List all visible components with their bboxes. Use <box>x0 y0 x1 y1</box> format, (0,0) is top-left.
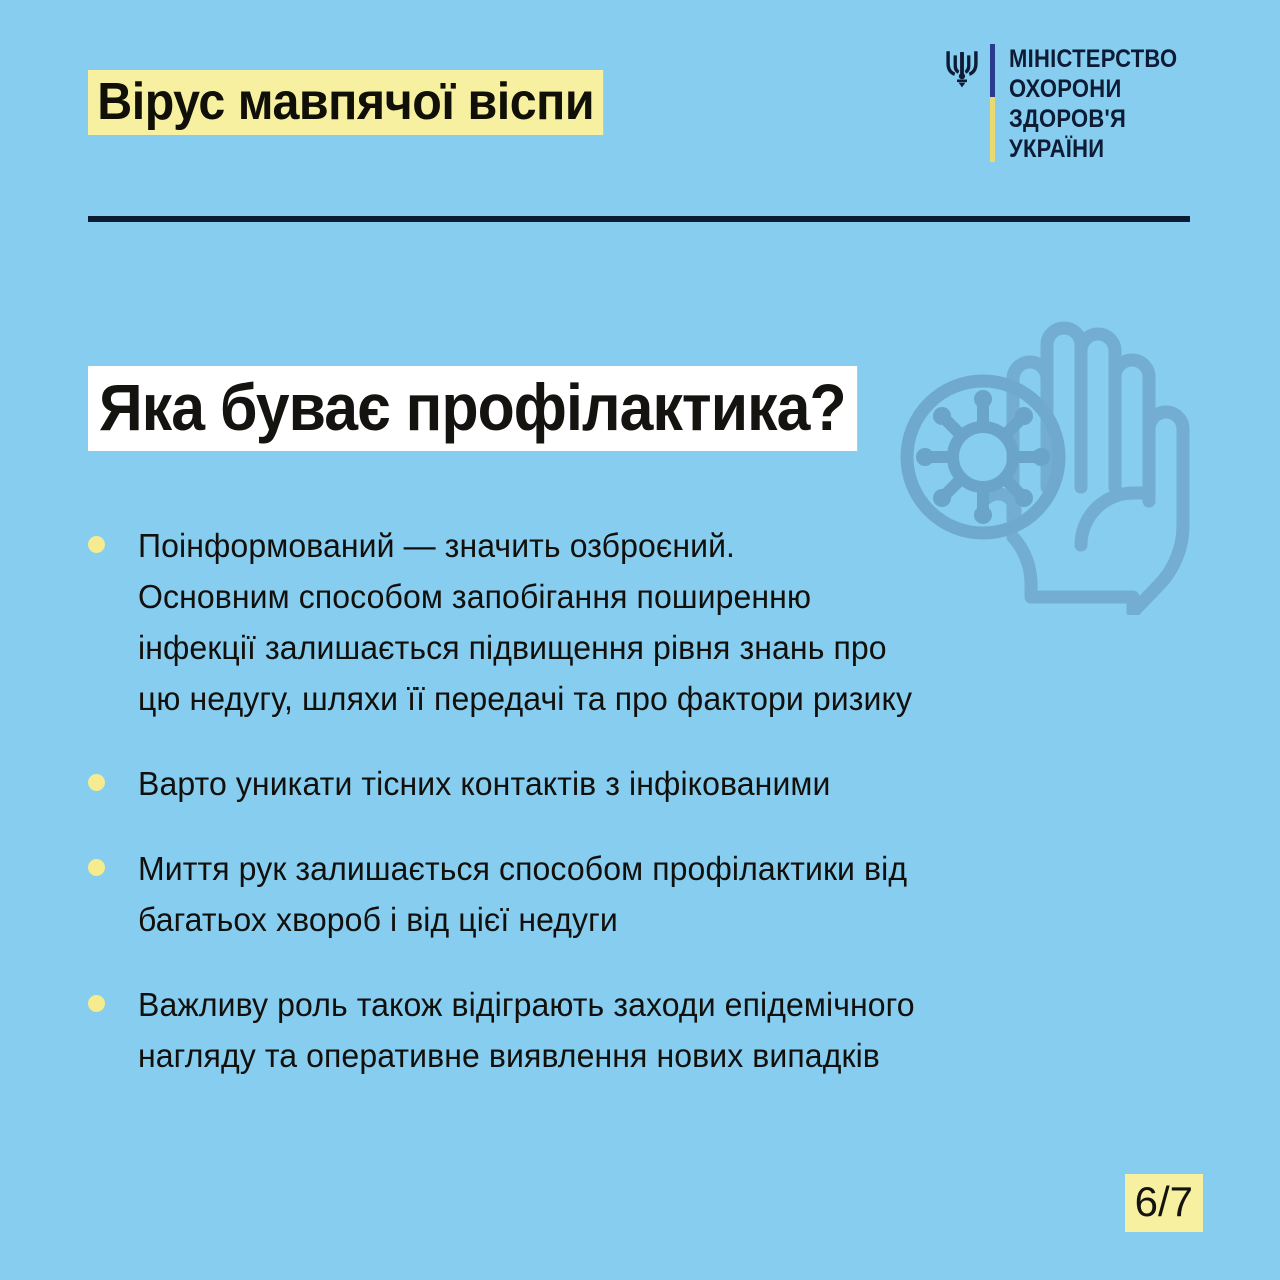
logo-line-1: МІНІСТЕРСТВО <box>1009 44 1177 74</box>
list-item: Поінформований — значить озброєний. Осно… <box>88 520 1098 724</box>
page-title-text: Вірус мавпячої віспи <box>88 70 603 135</box>
list-item-text: Миття рук залишається способом профілакт… <box>138 843 907 945</box>
page-title: Вірус мавпячої віспи <box>88 70 642 135</box>
logo-text: МІНІСТЕРСТВО ОХОРОНИ ЗДОРОВ'Я УКРАЇНИ <box>1009 44 1200 164</box>
list-item-line: нагляду та оперативне виявлення нових ви… <box>138 1030 915 1081</box>
list-item: Важливу роль також відіграють заходи епі… <box>88 979 1098 1081</box>
list-item-line: Поінформований — значить озброєний. <box>138 520 912 571</box>
list-item-line: багатьох хвороб і від цієї недуги <box>138 894 907 945</box>
bullet-dot-icon <box>88 995 105 1012</box>
ministry-logo: МІНІСТЕРСТВО ОХОРОНИ ЗДОРОВ'Я УКРАЇНИ <box>945 44 1200 164</box>
list-item-text: Поінформований — значить озброєний. Осно… <box>138 520 912 724</box>
section-heading-text: Яка буває профілактика? <box>88 366 857 451</box>
page-indicator: 6/7 <box>1125 1174 1203 1232</box>
logo-flag-bar <box>990 44 995 162</box>
logo-line-2: ОХОРОНИ <box>1009 74 1177 104</box>
infographic-slide: Вірус мавпячої віспи МІНІСТЕРСТВО ОХОРОН… <box>0 0 1280 1280</box>
list-item-line: Основним способом запобігання поширенню <box>138 571 912 622</box>
header-divider <box>88 216 1190 222</box>
list-item-line: інфекції залишається підвищення рівня зн… <box>138 622 912 673</box>
ukraine-trident-icon <box>945 48 979 88</box>
logo-line-3: ЗДОРОВ'Я <box>1009 104 1177 134</box>
list-item-line: цю недугу, шляхи її передачі та про факт… <box>138 673 912 724</box>
bullet-dot-icon <box>88 859 105 876</box>
list-item-line: Важливу роль також відіграють заходи епі… <box>138 979 915 1030</box>
list-item: Миття рук залишається способом профілакт… <box>88 843 1098 945</box>
bullet-dot-icon <box>88 774 105 791</box>
prevention-list: Поінформований — значить озброєний. Осно… <box>88 520 1098 1115</box>
logo-line-4: УКРАЇНИ <box>1009 134 1177 164</box>
list-item-text: Варто уникати тісних контактів з інфіков… <box>138 758 831 809</box>
bullet-dot-icon <box>88 536 105 553</box>
list-item-text: Важливу роль також відіграють заходи епі… <box>138 979 915 1081</box>
list-item-line: Миття рук залишається способом профілакт… <box>138 843 907 894</box>
section-heading: Яка буває профілактика? <box>88 366 924 451</box>
list-item: Варто уникати тісних контактів з інфіков… <box>88 758 1098 809</box>
list-item-line: Варто уникати тісних контактів з інфіков… <box>138 758 831 809</box>
